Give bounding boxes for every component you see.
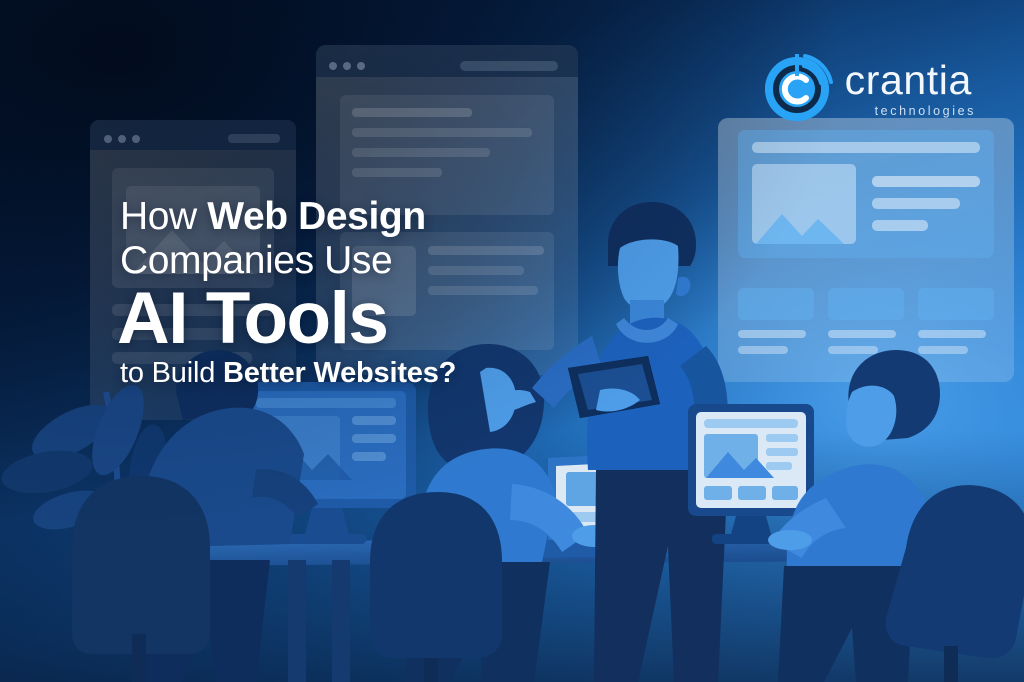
blog-hero-banner: How Web Design Companies Use AI Tools to… (0, 0, 1024, 682)
logo-wordmark: crantia technologies (845, 60, 976, 118)
logo-name: crantia (845, 60, 972, 101)
headline-line-1-bold: Web Design (207, 195, 425, 238)
headline-line-1-plain: How (120, 195, 207, 238)
crantia-logo-mark-icon (760, 52, 834, 126)
headline-block: How Web Design Companies Use AI Tools to… (120, 197, 456, 388)
logo-tagline: technologies (875, 105, 976, 118)
headline-line-4-bold: Better Websites? (223, 357, 456, 389)
brand-logo[interactable]: crantia technologies (760, 52, 976, 126)
headline-line-2: Companies Use (120, 241, 456, 280)
headline-line-4: to Build Better Websites? (120, 359, 456, 388)
headline-line-1: How Web Design (120, 197, 456, 236)
headline-line-3: AI Tools (117, 282, 456, 355)
headline-line-4-plain: to Build (120, 357, 223, 389)
